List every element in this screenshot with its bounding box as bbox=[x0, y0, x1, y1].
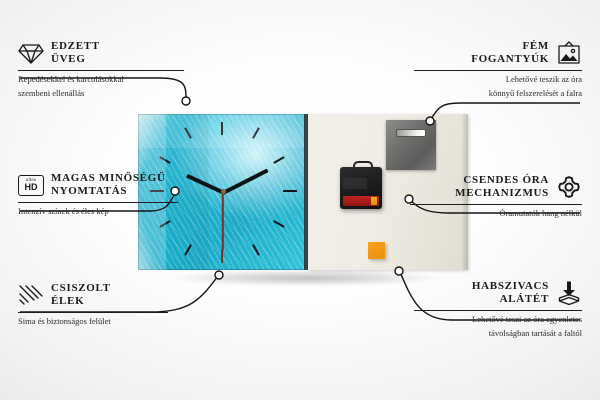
callout-title-line1: FÉM bbox=[471, 40, 549, 53]
clock-center-hub bbox=[221, 189, 226, 194]
callout-silent-movement: CSENDES ÓRA MECHANIZMUS Óramutatók hang … bbox=[410, 174, 582, 219]
callout-desc-line1: Lehetővé teszik az óra bbox=[414, 74, 582, 85]
callout-desc-line1: Repedésekkel és karcolásokkal bbox=[18, 74, 188, 85]
callout-rule bbox=[18, 70, 184, 71]
hd-badge-large-text: HD bbox=[25, 183, 38, 192]
clock-minute-hand bbox=[222, 168, 268, 194]
mechanism-loop bbox=[353, 161, 373, 172]
callout-title-line2: MECHANIZMUS bbox=[455, 187, 549, 200]
callout-polished-edges: CSISZOLT ÉLEK Sima és biztonságos felüle… bbox=[18, 282, 188, 327]
callout-desc-line2: könnyű felszerelését a falra bbox=[414, 88, 582, 99]
callout-desc-line1: Lehetővé teszi az óra egyenletes bbox=[414, 314, 582, 325]
callout-rule bbox=[18, 312, 168, 313]
callout-desc-line1: Intenzív színek és éles kép bbox=[18, 206, 188, 217]
battery-label bbox=[343, 196, 379, 206]
callout-desc-line2: szembeni ellenállás bbox=[18, 88, 188, 99]
foam-pad-square bbox=[368, 242, 385, 259]
frame-hanger-icon bbox=[556, 40, 582, 66]
callout-rule bbox=[414, 70, 582, 71]
callout-title-line2: FOGANTYÚK bbox=[471, 53, 549, 66]
mechanism-panel bbox=[343, 178, 367, 189]
polished-edges-icon bbox=[18, 284, 44, 306]
diamond-icon bbox=[18, 41, 44, 65]
callout-tempered-glass: EDZETT ÜVEG Repedésekkel és karcolásokka… bbox=[18, 40, 188, 99]
callout-title-line1: HABSZIVACS bbox=[472, 280, 549, 293]
callout-rule bbox=[410, 204, 582, 205]
callout-desc-line2: távolságban tartását a faltól bbox=[414, 328, 582, 339]
callout-title-line2: ALÁTÉT bbox=[472, 293, 549, 306]
hanger-slot bbox=[396, 129, 426, 137]
infographic-canvas: EDZETT ÜVEG Repedésekkel és karcolásokka… bbox=[0, 0, 600, 400]
callout-metal-handles: FÉM FOGANTYÚK Lehetővé teszik az óra kön… bbox=[414, 40, 582, 99]
ultra-hd-icon: ultra HD bbox=[18, 175, 44, 196]
metal-hanger-plate bbox=[386, 120, 436, 170]
callout-title-line1: MAGAS MINŐSÉGŰ bbox=[51, 172, 166, 185]
callout-rule bbox=[414, 310, 582, 311]
callout-title-line2: ÜVEG bbox=[51, 53, 100, 66]
gear-icon bbox=[556, 174, 582, 200]
clock-hour-hand bbox=[186, 174, 224, 194]
foam-stack-icon bbox=[556, 280, 582, 306]
callout-rule bbox=[18, 202, 178, 203]
clock-second-hand bbox=[222, 193, 224, 251]
callout-title-line2: NYOMTATÁS bbox=[51, 185, 166, 198]
callout-title-line2: ÉLEK bbox=[51, 295, 111, 308]
callout-desc-line1: Óramutatók hang nélkül bbox=[410, 208, 582, 219]
callout-title-line1: CSISZOLT bbox=[51, 282, 111, 295]
callout-high-quality-print: ultra HD MAGAS MINŐSÉGŰ NYOMTATÁS Intenz… bbox=[18, 172, 188, 217]
callout-title-line1: CSENDES ÓRA bbox=[455, 174, 549, 187]
clock-mechanism-box bbox=[340, 167, 382, 209]
callout-foam-pad: HABSZIVACS ALÁTÉT Lehetővé teszi az óra … bbox=[414, 280, 582, 339]
callout-desc-line1: Sima és biztonságos felület bbox=[18, 316, 188, 327]
callout-title-line1: EDZETT bbox=[51, 40, 100, 53]
